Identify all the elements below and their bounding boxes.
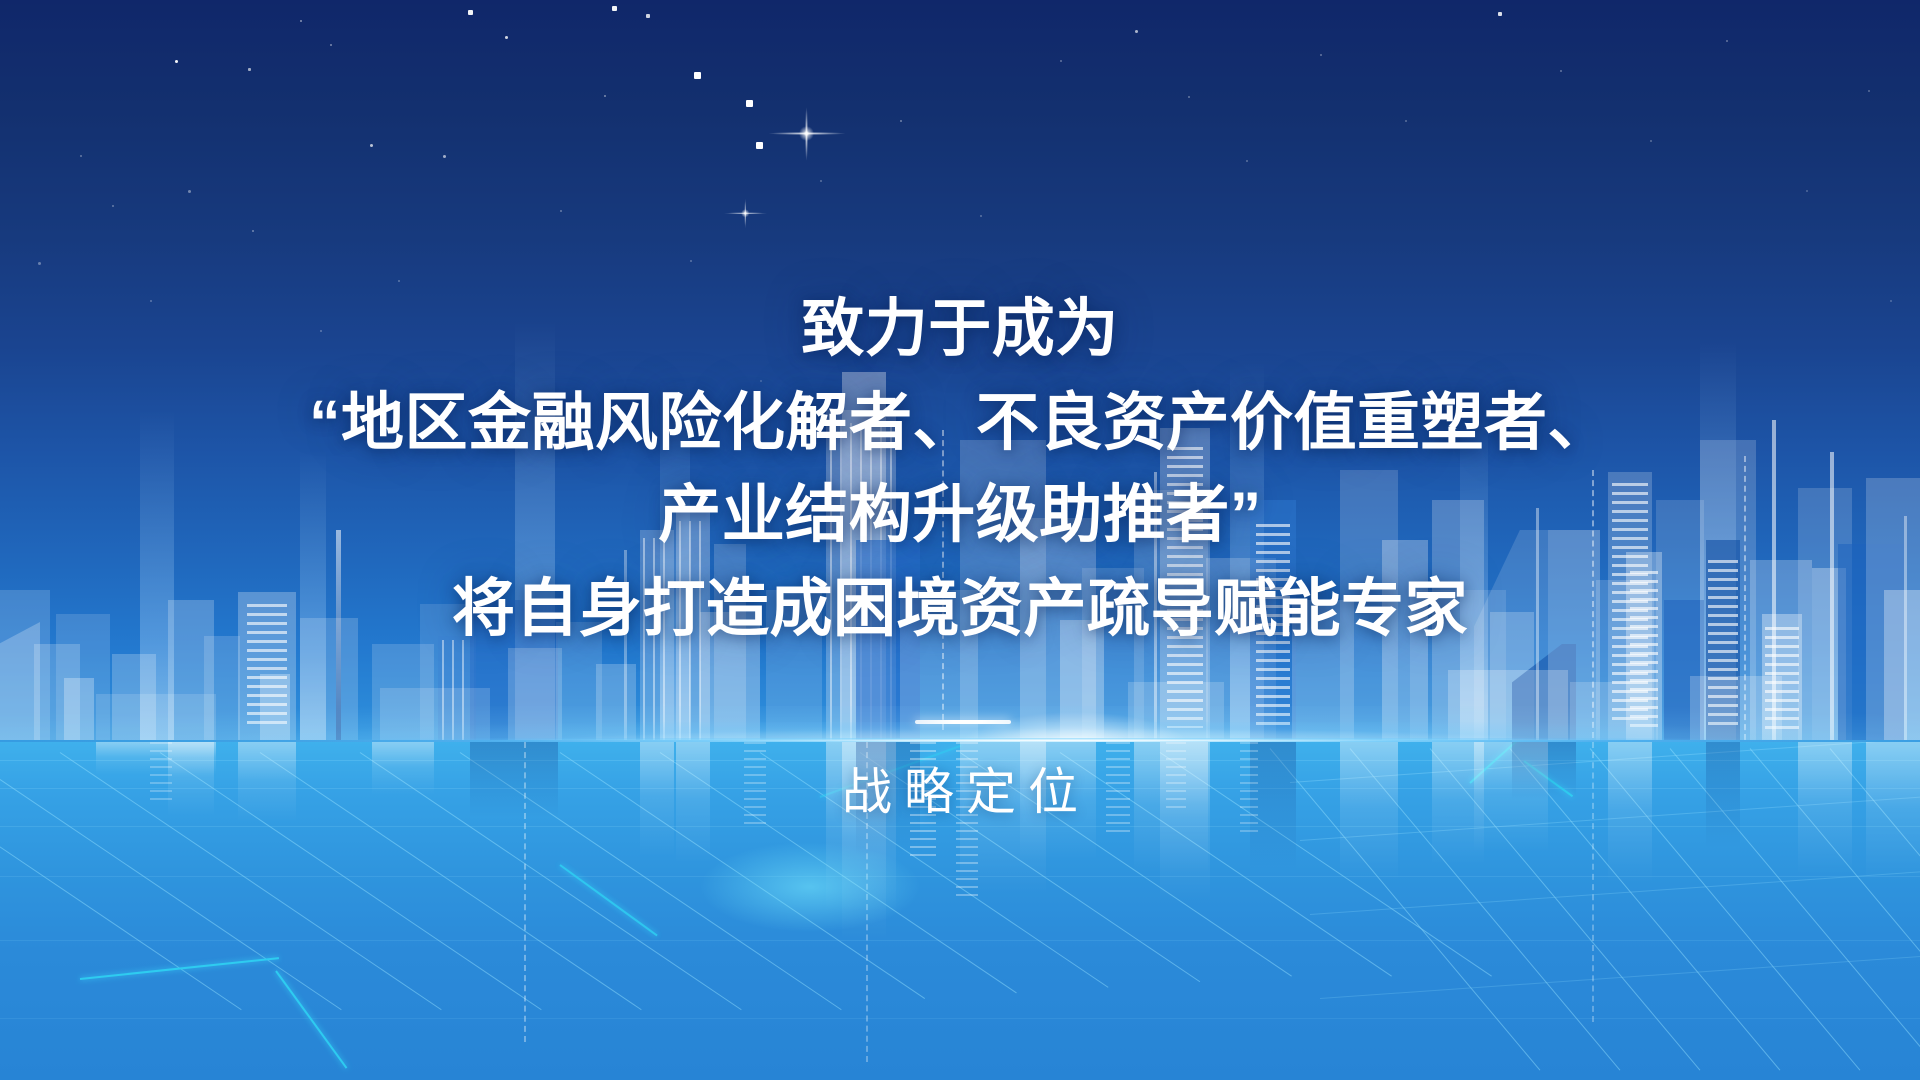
- slide-text-block: 致力于成为 “地区金融风险化解者、不良资产价值重塑者、 产业结构升级助推者” 将…: [0, 0, 1920, 1080]
- headline-line-2: “地区金融风险化解者、不良资产价值重塑者、: [0, 372, 1920, 463]
- subtitle-label: 战略定位: [0, 752, 1920, 824]
- headline-line-3: 产业结构升级助推者”: [0, 464, 1920, 555]
- headline-line-1: 致力于成为: [0, 278, 1920, 369]
- slide-canvas: 致力于成为 “地区金融风险化解者、不良资产价值重塑者、 产业结构升级助推者” 将…: [0, 0, 1920, 1080]
- title-divider: [915, 720, 1011, 724]
- headline-line-4: 将自身打造成困境资产疏导赋能专家: [0, 558, 1920, 649]
